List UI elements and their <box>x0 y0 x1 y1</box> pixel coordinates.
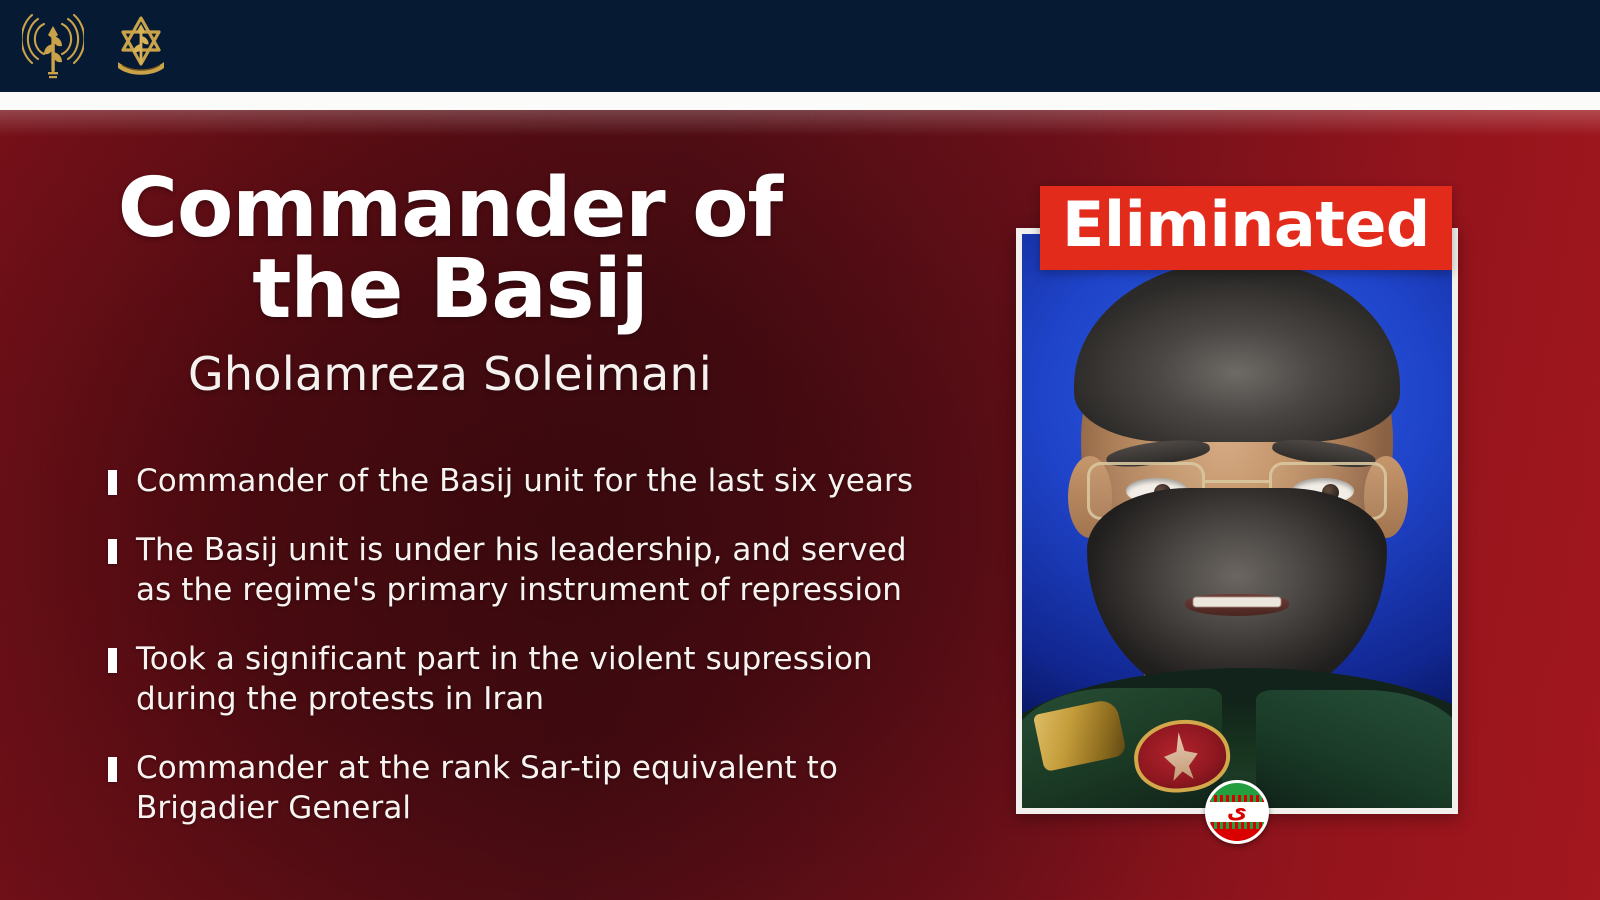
list-item-text: Took a significant part in the violent s… <box>136 640 873 720</box>
header-bar <box>0 0 1600 92</box>
bullet-marker-icon <box>108 539 117 564</box>
portrait-frame <box>1016 228 1458 814</box>
bullet-marker-icon <box>108 648 117 673</box>
list-item: Commander of the Basij unit for the last… <box>108 462 938 502</box>
iran-flag-badge: ی <box>1205 780 1269 844</box>
infographic-slide: Commander of the Basij Gholamreza Soleim… <box>0 0 1600 900</box>
logo-group <box>22 10 172 82</box>
content-column: Commander of the Basij Gholamreza Soleim… <box>0 110 980 900</box>
list-item-text: Commander at the rank Sar-tip equivalent… <box>136 749 838 829</box>
idf-emblem <box>110 10 172 82</box>
bullet-list: Commander of the Basij unit for the last… <box>108 462 938 829</box>
portrait-mouth <box>1185 594 1289 616</box>
list-item: Commander at the rank Sar-tip equivalent… <box>108 749 938 829</box>
page-subtitle: Gholamreza Soleimani <box>0 350 900 398</box>
bullet-marker-icon <box>108 470 117 495</box>
portrait-hair <box>1074 260 1400 442</box>
bullet-marker-icon <box>108 757 117 782</box>
list-item-text: The Basij unit is under his leadership, … <box>136 531 907 611</box>
flag-emblem-icon: ی <box>1227 801 1247 823</box>
list-item-text: Commander of the Basij unit for the last… <box>136 462 913 502</box>
list-item: Took a significant part in the violent s… <box>108 640 938 720</box>
portrait-container: ی <box>1016 228 1458 814</box>
page-title: Commander of the Basij <box>0 168 900 330</box>
glasses-bridge <box>1205 480 1269 483</box>
portrait-head <box>1076 270 1398 700</box>
portrait-shoulder-right <box>1256 690 1458 808</box>
title-block: Commander of the Basij Gholamreza Soleim… <box>0 168 900 399</box>
header-separator <box>0 92 1600 110</box>
status-badge: Eliminated <box>1040 186 1452 270</box>
idf-spokesperson-antenna-emblem <box>22 10 84 82</box>
status-badge-label: Eliminated <box>1062 194 1430 256</box>
list-item: The Basij unit is under his leadership, … <box>108 531 938 611</box>
